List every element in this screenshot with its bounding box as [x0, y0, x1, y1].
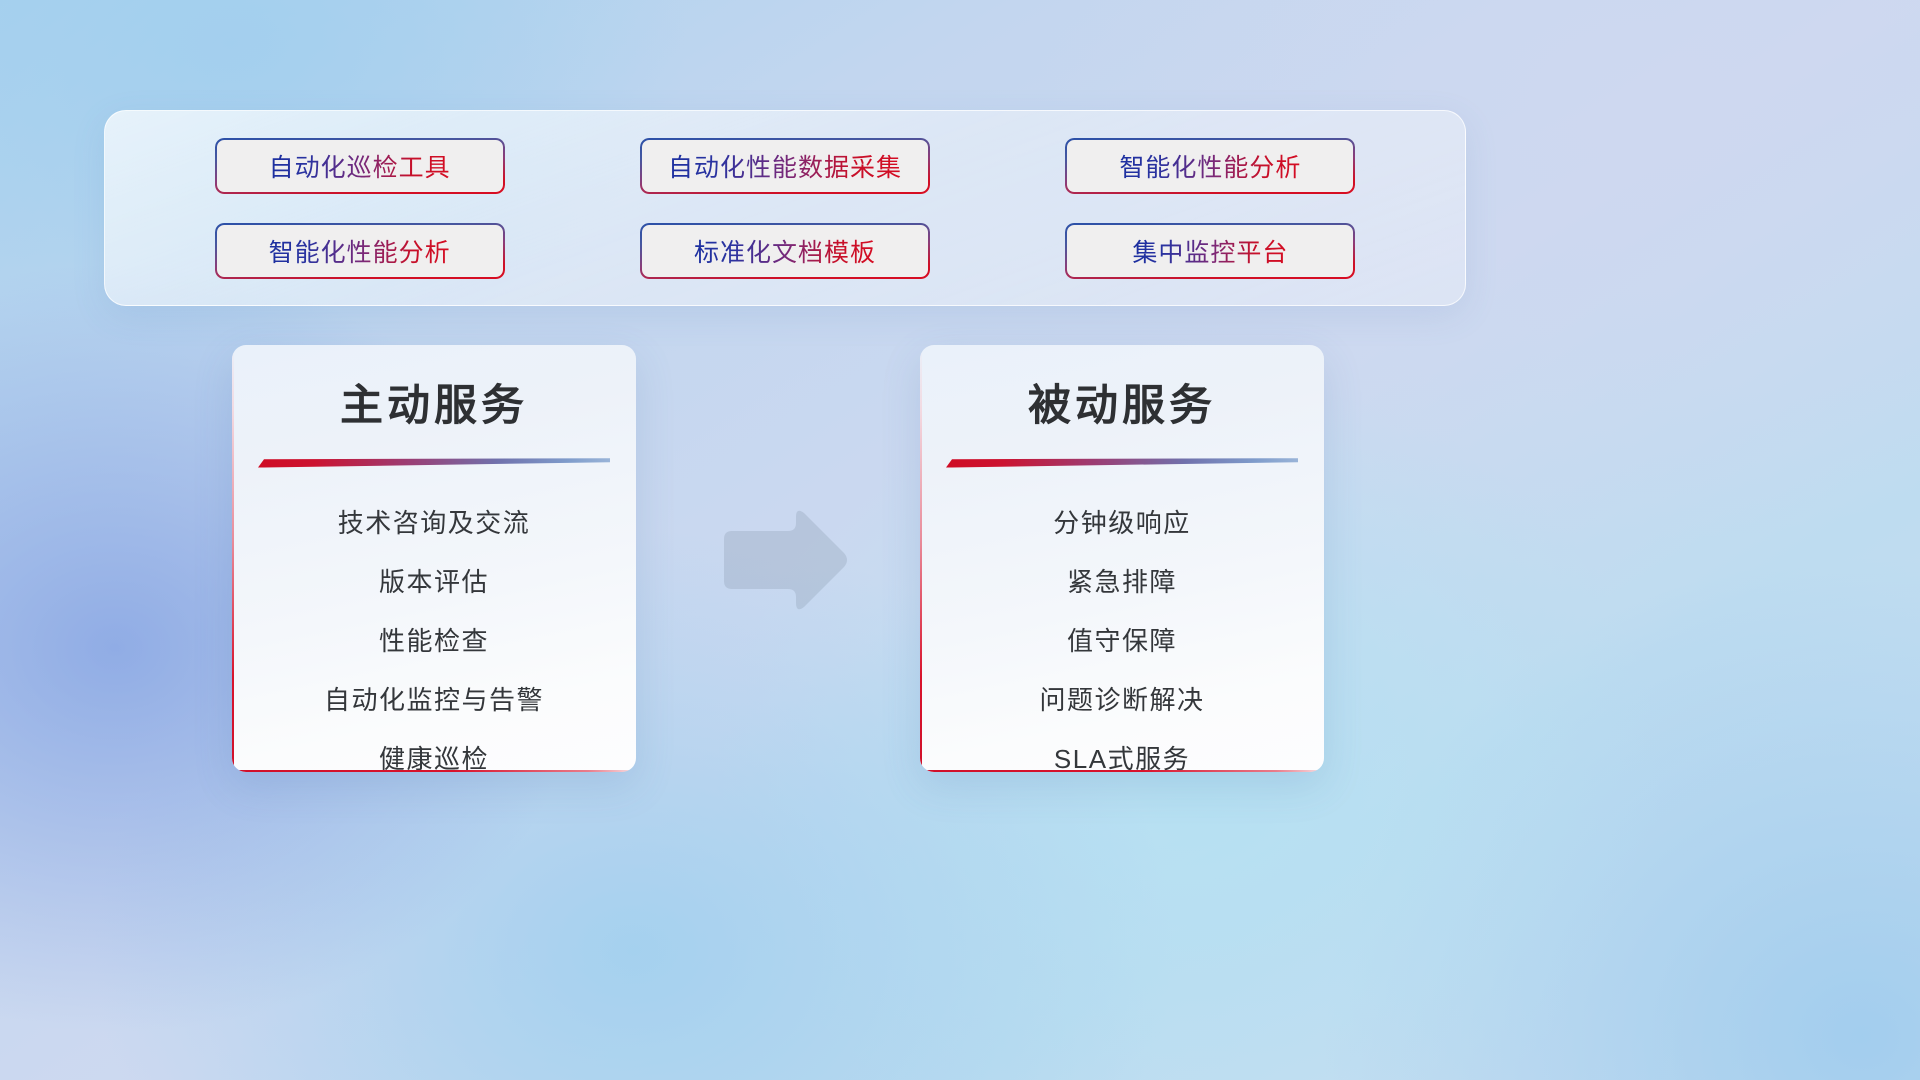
capability-tag-label: 标准化文档模板	[694, 233, 876, 269]
right-arrow-icon	[718, 505, 850, 615]
capability-tag[interactable]: 集中监控平台	[1065, 223, 1355, 279]
title-divider	[258, 457, 610, 468]
title-divider	[946, 457, 1298, 468]
active-service-list: 技术咨询及交流 版本评估 性能检查 自动化监控与告警 健康巡检	[232, 494, 636, 772]
capability-tag-label: 集中监控平台	[1132, 233, 1288, 269]
capability-tag[interactable]: 智能化性能分析	[215, 223, 505, 279]
capability-tag-label: 智能化性能分析	[1119, 148, 1301, 184]
capability-tag[interactable]: 智能化性能分析	[1065, 138, 1355, 194]
list-item: 分钟级响应	[938, 494, 1306, 553]
list-item: 性能检查	[250, 612, 618, 671]
active-service-title: 主动服务	[232, 371, 636, 433]
list-item: 技术咨询及交流	[250, 494, 618, 553]
active-service-card[interactable]: 主动服务 技术咨询及交流 版本评估 性能检查	[232, 345, 636, 772]
list-item: 紧急排障	[938, 553, 1306, 612]
capability-tag[interactable]: 自动化性能数据采集	[640, 138, 930, 194]
capability-tag-label: 智能化性能分析	[269, 233, 451, 269]
slide-canvas: 自动化巡检工具 自动化性能数据采集 智能化性能分析 智能化性能分析 标准化文档模…	[0, 0, 1920, 1080]
capability-tag-label: 自动化巡检工具	[269, 148, 451, 184]
list-item: 值守保障	[938, 612, 1306, 671]
list-item: 版本评估	[250, 553, 618, 612]
capability-tag[interactable]: 自动化巡检工具	[215, 138, 505, 194]
capability-tag[interactable]: 标准化文档模板	[640, 223, 930, 279]
passive-service-card[interactable]: 被动服务 分钟级响应 紧急排障 值守保障	[920, 345, 1324, 772]
capability-tag-label: 自动化性能数据采集	[668, 148, 902, 184]
list-item: 问题诊断解决	[938, 671, 1306, 730]
passive-service-title: 被动服务	[920, 371, 1324, 433]
list-item: 自动化监控与告警	[250, 671, 618, 730]
capability-tags-panel: 自动化巡检工具 自动化性能数据采集 智能化性能分析 智能化性能分析 标准化文档模…	[104, 110, 1466, 306]
passive-service-list: 分钟级响应 紧急排障 值守保障 问题诊断解决 SLA式服务	[920, 494, 1324, 772]
list-item: SLA式服务	[938, 730, 1306, 772]
list-item: 健康巡检	[250, 730, 618, 772]
